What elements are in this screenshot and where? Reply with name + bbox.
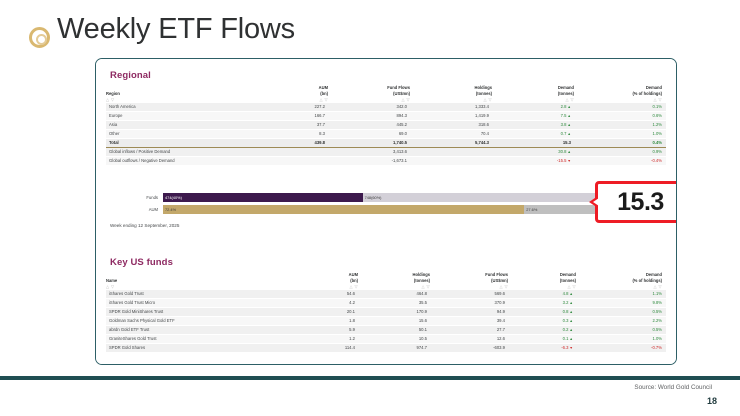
regional-col-region[interactable]: Region △ ▽ (106, 85, 256, 103)
demand-tonnes-cell: 3.8 (492, 120, 574, 129)
regional-table: Region △ ▽ AUM (bn) △ ▽ Fund Flows (US$m… (106, 85, 666, 166)
region-name: Other (106, 129, 256, 138)
demand-pct-value: 1.1% (652, 291, 662, 296)
source-note: Source: World Gold Council (634, 384, 712, 391)
demand-pct-value: -0.4% (651, 158, 662, 163)
completeness-bars: Funds474(40%)748(60%)AUM72.4%27.6% (110, 193, 662, 217)
demand-pct-cell: 9.8% (576, 298, 666, 307)
fund-name: iShares Gold Trust (106, 290, 296, 299)
holdings-value (410, 157, 492, 166)
demand-value: 0.8 (563, 309, 573, 314)
demand-pct-cell: 0.5% (576, 307, 666, 316)
regional-col-demand-tonnes[interactable]: Demand (tonnes) △ ▽ (492, 85, 574, 103)
holdings-value: 50.1 (358, 326, 430, 335)
fund-flows-value: 69.0 (328, 129, 410, 138)
holdings-value: 35.5 (358, 298, 430, 307)
aum-value (256, 157, 328, 166)
regional-col-aum[interactable]: AUM (bn) △ ▽ (256, 85, 328, 103)
completeness-segment-complete: 474(40%) (163, 193, 363, 202)
aum-value (256, 148, 328, 157)
region-name: Europe (106, 111, 256, 120)
demand-value: 30.8 (558, 149, 571, 154)
fund-flows-value: 445.2 (328, 120, 410, 129)
demand-pct-cell: 2.2% (576, 316, 666, 325)
regional-col-fund-flows[interactable]: Fund Flows (US$mn) △ ▽ (328, 85, 410, 103)
key-us-funds-header-row: Name △ ▽ AUM (bn) △ ▽ Holdings (tonnes) … (106, 272, 666, 290)
demand-tonnes-cell: 0.7 (492, 129, 574, 138)
fund-flows-value: 94.9 (430, 307, 508, 316)
key-us-funds-table: Name △ ▽ AUM (bn) △ ▽ Holdings (tonnes) … (106, 272, 666, 353)
demand-tonnes-cell: 2.8 (492, 103, 574, 112)
keyus-col-fund-flows[interactable]: Fund Flows (US$mn) △ ▽ (430, 272, 508, 290)
demand-pct-cell: 1.1% (576, 290, 666, 299)
table-row[interactable]: iShares Gold Trust Micro4.235.5370.93.29… (106, 298, 666, 307)
table-row[interactable]: iShares Gold Trust54.6464.8569.64.81.1% (106, 290, 666, 299)
fund-flows-value: 12.6 (430, 335, 508, 344)
table-row[interactable]: Goldman Sachs Physical Gold ETF1.815.639… (106, 316, 666, 325)
fund-name: GraniteShares Gold Trust (106, 335, 296, 344)
report-card-inner: Regional Region △ ▽ AUM (bn) △ ▽ (96, 59, 676, 364)
demand-pct-value: 0.5% (652, 327, 662, 332)
demand-pct-cell: 0.5% (576, 326, 666, 335)
aum-value: 114.4 (296, 344, 358, 353)
holdings-value: 464.8 (358, 290, 430, 299)
aum-value: 1.8 (296, 316, 358, 325)
aum-value: 166.7 (256, 111, 328, 120)
table-row[interactable]: Europe166.7894.31,419.97.50.6% (106, 111, 666, 120)
demand-pct-value: -0.7% (651, 345, 662, 350)
demand-pct-value: 9.8% (652, 300, 662, 305)
regional-table-head: Region △ ▽ AUM (bn) △ ▽ Fund Flows (US$m… (106, 85, 666, 103)
demand-tonnes-cell: 4.8 (508, 290, 576, 299)
demand-tonnes-cell: 3.2 (508, 298, 576, 307)
demand-pct-value: 0.9% (652, 149, 662, 154)
demand-pct-value: 1.2% (652, 122, 662, 127)
regional-col-holdings[interactable]: Holdings (tonnes) △ ▽ (410, 85, 492, 103)
slide-header: Weekly ETF Flows (0, 0, 740, 62)
holdings-value: 1,333.4 (410, 103, 492, 112)
demand-pct-cell: 0.1% (574, 103, 666, 112)
regional-col-demand-pct[interactable]: Demand (% of holdings) △ ▽ (574, 85, 666, 103)
demand-pct-value: 1.0% (652, 336, 662, 341)
demand-pct-cell: 0.6% (574, 111, 666, 120)
demand-pct-value: 0.1% (652, 104, 662, 109)
demand-tonnes-cell: 7.5 (492, 111, 574, 120)
key-us-funds-section-title: Key US funds (110, 257, 173, 268)
demand-value: 15.3 (563, 140, 571, 145)
region-name: Global inflows / Positive Demand (106, 148, 256, 157)
table-row[interactable]: Asia37.7445.2318.63.81.2% (106, 120, 666, 129)
keyus-col-holdings[interactable]: Holdings (tonnes) △ ▽ (358, 272, 430, 290)
fund-flows-value: 3,413.6 (328, 148, 410, 157)
table-row[interactable]: SPDR Gold MiniShares Trust20.1170.994.90… (106, 307, 666, 316)
aum-value: 1.2 (296, 335, 358, 344)
demand-tonnes-cell: 0.1 (508, 335, 576, 344)
fund-name: Goldman Sachs Physical Gold ETF (106, 316, 296, 325)
regional-section-title: Regional (110, 70, 151, 81)
completeness-bar-track: 72.4%27.6% (163, 205, 662, 214)
fund-flows-value: 27.7 (430, 326, 508, 335)
holdings-value: 974.7 (358, 344, 430, 353)
fund-name: SPDR Gold MiniShares Trust (106, 307, 296, 316)
holdings-value (410, 148, 492, 157)
fund-flows-value: 342.0 (328, 103, 410, 112)
demand-value: 3.8 (561, 122, 571, 127)
fund-name: iShares Gold Trust Micro (106, 298, 296, 307)
region-name: Asia (106, 120, 256, 129)
aum-value: 54.6 (296, 290, 358, 299)
demand-value: -6.3 (561, 345, 573, 350)
table-row[interactable]: Global outflows / Negative Demand-1,673.… (106, 157, 666, 166)
completeness-bar-label: Funds (110, 195, 163, 200)
footer-rule (0, 376, 740, 380)
holdings-value: 1,419.9 (410, 111, 492, 120)
aum-value: 227.2 (256, 103, 328, 112)
demand-pct-cell: 0.4% (574, 139, 666, 148)
key-us-funds-table-head: Name △ ▽ AUM (bn) △ ▽ Holdings (tonnes) … (106, 272, 666, 290)
demand-value: 0.2 (563, 327, 573, 332)
fund-flows-value: 894.3 (328, 111, 410, 120)
page-number: 18 (707, 396, 717, 406)
demand-value: 0.7 (561, 131, 571, 136)
regional-table-body: North America227.2342.01,333.42.80.1%Eur… (106, 103, 666, 166)
completeness-bar-row: AUM72.4%27.6% (110, 205, 662, 214)
fund-flows-value: -603.9 (430, 344, 508, 353)
demand-pct-cell: 1.0% (576, 335, 666, 344)
key-us-funds-table-body: iShares Gold Trust54.6464.8569.64.81.1%i… (106, 290, 666, 353)
completeness-segment-complete: 72.4% (163, 205, 524, 214)
demand-value: 3.2 (563, 300, 573, 305)
demand-value: 7.5 (561, 113, 571, 118)
fund-flows-value: 1,740.5 (328, 139, 410, 148)
aum-value: 37.7 (256, 120, 328, 129)
demand-value: -15.5 (557, 158, 571, 163)
demand-pct-value: 0.5% (652, 309, 662, 314)
holdings-value: 70.4 (410, 129, 492, 138)
holdings-value: 170.9 (358, 307, 430, 316)
demand-pct-cell: -0.7% (576, 344, 666, 353)
completeness-bar-row: Funds474(40%)748(60%) (110, 193, 662, 202)
demand-pct-value: 2.2% (652, 318, 662, 323)
region-name: Total (106, 139, 256, 148)
demand-pct-cell: 1.0% (574, 129, 666, 138)
callout-tail-inner-icon (593, 198, 599, 206)
demand-pct-value: 1.0% (652, 131, 662, 136)
demand-pct-cell: 0.9% (574, 148, 666, 157)
aum-value: 5.9 (296, 326, 358, 335)
ring-logo-icon (29, 27, 50, 48)
demand-value: 0.3 (563, 318, 573, 323)
demand-tonnes-cell: 0.2 (508, 326, 576, 335)
aum-value: 8.3 (256, 129, 328, 138)
demand-value: 0.1 (563, 336, 573, 341)
week-ending-label: Week ending 12 September, 2025 (110, 223, 179, 228)
page-title: Weekly ETF Flows (57, 13, 295, 46)
demand-pct-value: 0.4% (652, 140, 662, 145)
demand-tonnes-cell: 0.8 (508, 307, 576, 316)
holdings-value: 5,744.3 (410, 139, 492, 148)
demand-value: 2.8 (561, 104, 571, 109)
table-row[interactable]: abrdn Gold ETF Trust5.950.127.70.20.5% (106, 326, 666, 335)
aum-value: 439.8 (256, 139, 328, 148)
table-row[interactable]: SPDR Gold Shares114.4974.7-603.9-6.3-0.7… (106, 344, 666, 353)
demand-tonnes-cell: 0.3 (508, 316, 576, 325)
fund-flows-value: 569.6 (430, 290, 508, 299)
report-card: Regional Region △ ▽ AUM (bn) △ ▽ (95, 58, 677, 365)
regional-header-row: Region △ ▽ AUM (bn) △ ▽ Fund Flows (US$m… (106, 85, 666, 103)
holdings-value: 318.6 (410, 120, 492, 129)
region-name: Global outflows / Negative Demand (106, 157, 256, 166)
demand-pct-cell: 1.2% (574, 120, 666, 129)
table-row[interactable]: GraniteShares Gold Trust1.210.512.60.11.… (106, 335, 666, 344)
completeness-bar-track: 474(40%)748(60%) (163, 193, 662, 202)
callout-value: 15.3 (617, 188, 664, 217)
demand-tonnes-cell: 15.3 (492, 139, 574, 148)
fund-name: SPDR Gold Shares (106, 344, 296, 353)
demand-pct-cell: -0.4% (574, 157, 666, 166)
demand-value: 4.8 (563, 291, 573, 296)
fund-flows-value: 39.4 (430, 316, 508, 325)
demand-pct-value: 0.6% (652, 113, 662, 118)
table-row[interactable]: North America227.2342.01,333.42.80.1% (106, 103, 666, 112)
demand-tonnes-cell: 30.8 (492, 148, 574, 157)
table-row[interactable]: Other8.369.070.40.71.0% (106, 129, 666, 138)
completeness-bar-label: AUM (110, 207, 163, 212)
region-name: North America (106, 103, 256, 112)
keyus-col-demand-pct[interactable]: Demand (% of holdings) △ ▽ (576, 272, 666, 290)
keyus-col-aum[interactable]: AUM (bn) △ ▽ (296, 272, 358, 290)
callout-highlight: 15.3 (595, 181, 677, 223)
keyus-col-name[interactable]: Name △ ▽ (106, 272, 296, 290)
demand-tonnes-cell: -15.5 (492, 157, 574, 166)
fund-flows-value: 370.9 (430, 298, 508, 307)
holdings-value: 10.5 (358, 335, 430, 344)
demand-tonnes-cell: -6.3 (508, 344, 576, 353)
aum-value: 4.2 (296, 298, 358, 307)
aum-value: 20.1 (296, 307, 358, 316)
holdings-value: 15.6 (358, 316, 430, 325)
fund-flows-value: -1,673.1 (328, 157, 410, 166)
fund-name: abrdn Gold ETF Trust (106, 326, 296, 335)
table-row[interactable]: Total439.81,740.55,744.315.30.4% (106, 139, 666, 148)
table-row[interactable]: Global inflows / Positive Demand3,413.63… (106, 148, 666, 157)
keyus-col-demand-tonnes[interactable]: Demand (tonnes) △ ▽ (508, 272, 576, 290)
